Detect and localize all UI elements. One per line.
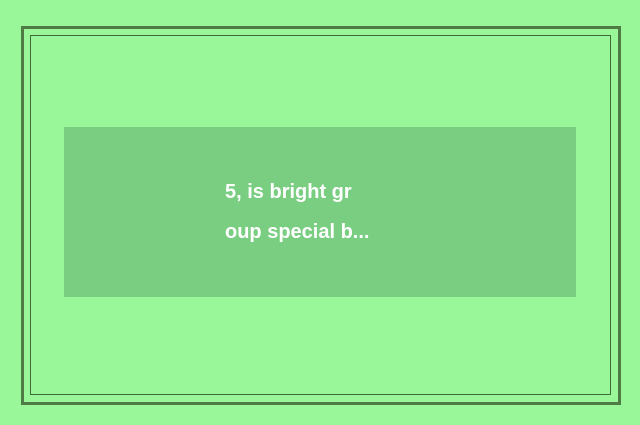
page-canvas: 5, is bright gr oup special b...	[0, 0, 640, 425]
message-line-1: 5, is bright gr	[225, 172, 352, 212]
content-panel: 5, is bright gr oup special b...	[64, 127, 576, 297]
message-line-2: oup special b...	[225, 212, 369, 252]
